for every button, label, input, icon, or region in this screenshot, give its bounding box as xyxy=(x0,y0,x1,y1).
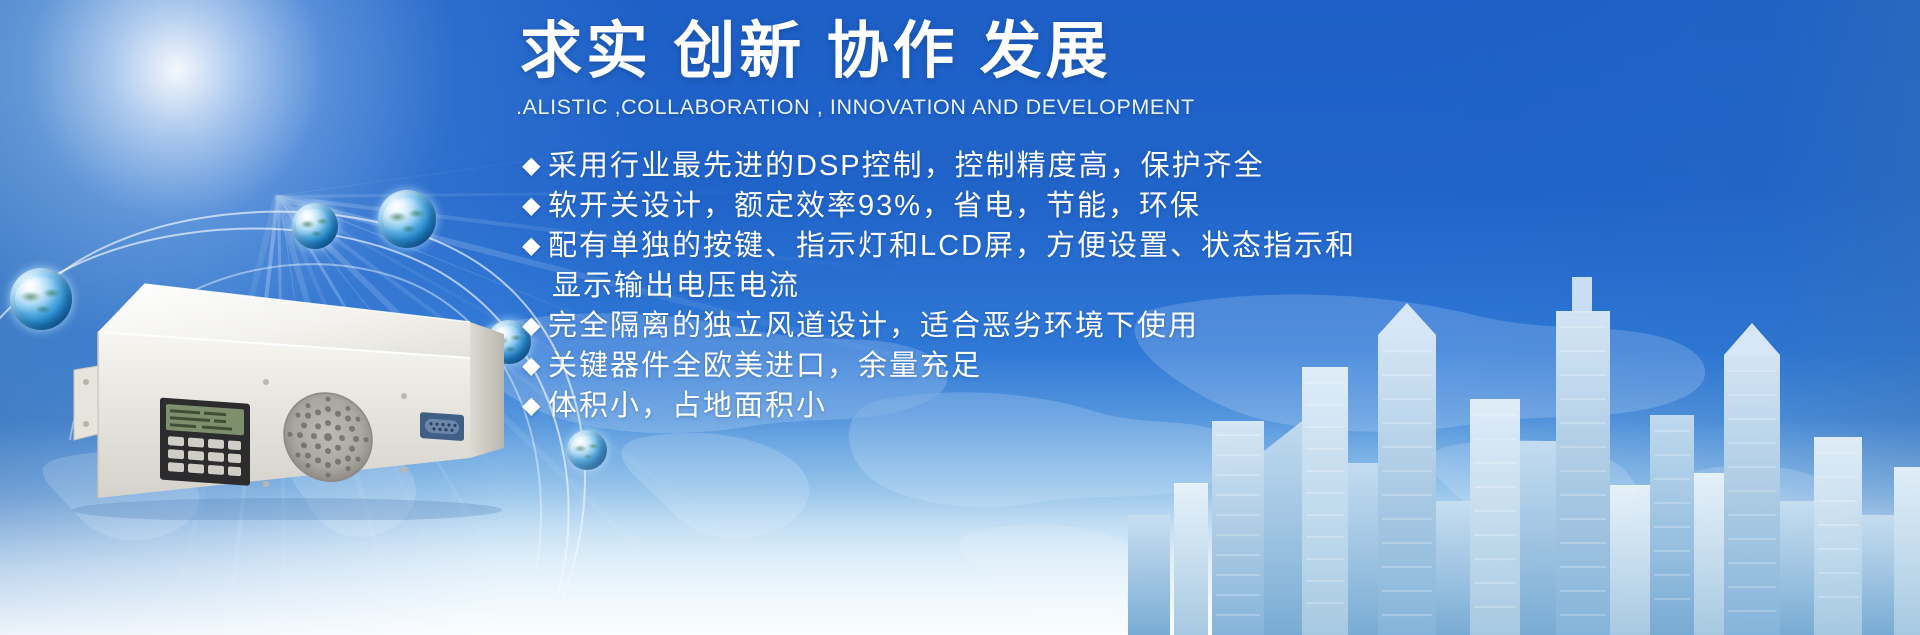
diamond-bullet-icon: ◆ xyxy=(522,346,548,386)
feature-list-item: ◆采用行业最先进的DSP控制，控制精度高，保护齐全 xyxy=(522,146,1880,186)
feature-list-item-label: 显示输出电压电流 xyxy=(552,266,800,306)
feature-list-item-label: 采用行业最先进的DSP控制，控制精度高，保护齐全 xyxy=(548,146,1265,186)
feature-list-item: ◆软开关设计，额定效率93%，省电，节能，环保 xyxy=(522,186,1880,226)
feature-list-item: ◆体积小，占地面积小 xyxy=(522,386,1880,426)
feature-list-item: ◆完全隔离的独立风道设计，适合恶劣环境下使用 xyxy=(522,306,1880,346)
diamond-bullet-icon: ◆ xyxy=(522,306,548,346)
feature-list-item-label: 配有单独的按键、指示灯和LCD屏，方便设置、状态指示和 xyxy=(548,226,1356,266)
feature-list-item-label: 体积小，占地面积小 xyxy=(548,386,827,426)
diamond-bullet-icon: ◆ xyxy=(522,226,548,266)
feature-list-item-label: 关键器件全欧美进口，余量充足 xyxy=(548,346,982,386)
globe-upper-icon xyxy=(378,190,436,248)
diamond-bullet-icon: ◆ xyxy=(522,146,548,186)
banner-copy: 求实 创新 协作 发展 .ALISTIC ,COLLABORATION , IN… xyxy=(500,14,1880,426)
feature-list-item-label: 完全隔离的独立风道设计，适合恶劣环境下使用 xyxy=(548,306,1199,346)
feature-list-item: ◆关键器件全欧美进口，余量充足 xyxy=(522,346,1880,386)
diamond-bullet-icon: ◆ xyxy=(522,186,548,226)
rackmount-power-supply-image xyxy=(52,262,522,520)
feature-list-item-label: 软开关设计，额定效率93%，省电，节能，环保 xyxy=(548,186,1201,226)
globe-bottom-icon xyxy=(567,430,607,470)
banner-stage: 求实 创新 协作 发展 .ALISTIC ,COLLABORATION , IN… xyxy=(0,0,1920,635)
diamond-bullet-icon: ◆ xyxy=(522,386,548,426)
banner-subtitle: .ALISTIC ,COLLABORATION , INNOVATION AND… xyxy=(516,94,1880,120)
globe-mid-icon xyxy=(292,203,338,249)
feature-list-item: ◆配有单独的按键、指示灯和LCD屏，方便设置、状态指示和 xyxy=(522,226,1880,266)
feature-list: ◆采用行业最先进的DSP控制，控制精度高，保护齐全◆软开关设计，额定效率93%，… xyxy=(522,146,1880,426)
feature-list-item: 显示输出电压电流 xyxy=(522,266,1880,306)
banner-title: 求实 创新 协作 发展 xyxy=(520,14,1880,90)
